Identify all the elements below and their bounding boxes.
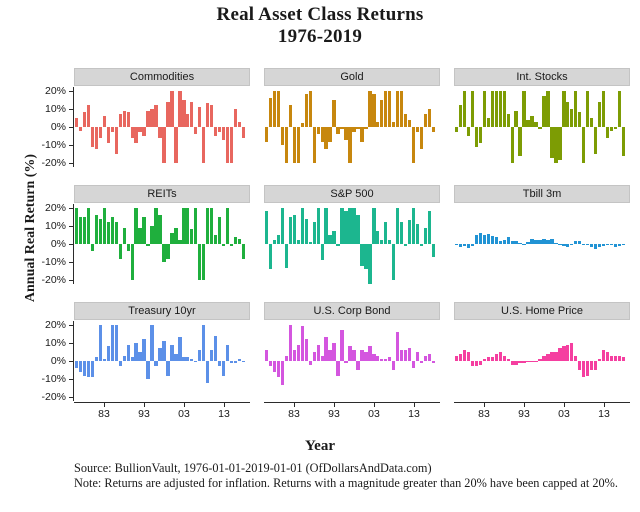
bar	[606, 352, 609, 361]
bar	[138, 228, 141, 244]
bar	[388, 357, 391, 361]
bar	[194, 361, 197, 362]
bar	[514, 361, 517, 365]
x-axis-tick-label: 93	[314, 409, 354, 419]
x-axis-tick	[224, 403, 225, 407]
bar	[226, 208, 229, 244]
bar	[487, 234, 490, 244]
bar	[269, 98, 272, 127]
y-axis-tick-label: 10%	[12, 221, 66, 231]
bar	[99, 325, 102, 361]
bar	[75, 361, 78, 368]
bar	[87, 361, 90, 377]
bar	[226, 127, 229, 163]
bar	[356, 361, 359, 370]
bar	[190, 229, 193, 244]
bar	[317, 127, 320, 134]
bar	[392, 244, 395, 280]
bar	[238, 122, 241, 127]
bar	[289, 105, 292, 127]
bar	[103, 116, 106, 127]
bar	[75, 208, 78, 244]
bar	[182, 100, 185, 127]
bar	[392, 122, 395, 127]
bar	[178, 91, 181, 127]
bar	[530, 361, 533, 362]
bar	[273, 240, 276, 244]
bar	[479, 361, 482, 365]
bar	[87, 105, 90, 127]
bar	[242, 127, 245, 138]
bar	[396, 208, 399, 244]
bar	[158, 348, 161, 361]
bar	[467, 244, 470, 248]
y-axis-tick	[69, 127, 73, 128]
bar	[558, 348, 561, 361]
bar	[107, 222, 110, 244]
bar	[424, 228, 427, 244]
bar	[360, 350, 363, 361]
bar	[534, 122, 537, 127]
bar	[499, 352, 502, 361]
y-axis-tick	[69, 397, 73, 398]
bar	[174, 228, 177, 244]
bar	[123, 228, 126, 244]
bar	[146, 244, 149, 246]
bar	[471, 361, 474, 366]
x-axis-tick	[104, 403, 105, 407]
bar	[83, 112, 86, 127]
bar	[332, 100, 335, 127]
bar	[309, 361, 312, 365]
bar	[598, 359, 601, 361]
bar	[511, 127, 514, 163]
bar	[499, 91, 502, 127]
bar	[127, 112, 130, 127]
facet-panel-int-stocks: Int. Stocks	[454, 68, 630, 167]
bar	[340, 330, 343, 361]
facet-strip-label: Int. Stocks	[516, 72, 567, 83]
chart-caption: Source: BullionVault, 1976-01-01-2019-01…	[74, 461, 630, 490]
y-axis-tick	[69, 325, 73, 326]
caption-source: Source: BullionVault, 1976-01-01-2019-01…	[74, 461, 630, 476]
bar	[360, 244, 363, 266]
bar	[566, 244, 569, 247]
bar	[111, 217, 114, 244]
bar	[598, 244, 601, 247]
facet-panel-s-p-500: S&P 500	[264, 185, 440, 284]
bar	[269, 244, 272, 269]
bar	[301, 123, 304, 127]
bar	[79, 217, 82, 244]
bar	[142, 127, 145, 136]
bar	[368, 346, 371, 361]
bar	[214, 235, 217, 244]
bar	[467, 127, 470, 136]
bar	[400, 350, 403, 361]
bar	[562, 244, 565, 246]
bar	[360, 127, 363, 142]
bar	[408, 348, 411, 361]
bar	[459, 244, 462, 247]
bar	[206, 103, 209, 127]
bar	[459, 105, 462, 127]
bar	[400, 91, 403, 127]
y-axis-tick-label: -10%	[12, 257, 66, 267]
bar	[590, 361, 593, 370]
bar	[372, 208, 375, 244]
bar	[214, 336, 217, 361]
bar	[530, 239, 533, 244]
bar	[95, 127, 98, 149]
bar	[134, 343, 137, 361]
bar	[570, 343, 573, 361]
bar	[293, 215, 296, 244]
bar	[428, 354, 431, 361]
y-axis-tick	[69, 91, 73, 92]
bar	[79, 361, 82, 372]
bar	[313, 127, 316, 163]
bar	[324, 127, 327, 149]
bar	[210, 105, 213, 127]
x-axis-tick	[564, 403, 565, 407]
y-axis-tick	[69, 262, 73, 263]
bar	[99, 127, 102, 138]
chart-page: Real Asset Class Returns 1976-2019 Annua…	[0, 0, 640, 512]
bar	[134, 208, 137, 244]
facet-panel-treasury-10yr: Treasury 10yr	[74, 302, 250, 401]
bar	[538, 127, 541, 129]
bar	[194, 208, 197, 244]
bar	[594, 127, 597, 154]
facet-strip-label: REITs	[147, 189, 176, 200]
bar	[542, 239, 545, 244]
bar	[614, 127, 617, 129]
y-axis-tick-label: -10%	[12, 374, 66, 384]
bar	[138, 352, 141, 361]
bar	[119, 114, 122, 127]
bar	[281, 208, 284, 244]
bar	[131, 357, 134, 361]
bar	[273, 361, 276, 372]
bar	[396, 332, 399, 361]
facet-panel-commodities: Commodities	[74, 68, 250, 167]
bar	[317, 345, 320, 361]
bar	[281, 361, 284, 385]
bar	[150, 109, 153, 127]
bar	[170, 345, 173, 361]
y-axis-tick-label: 10%	[12, 338, 66, 348]
bar	[305, 339, 308, 361]
bar	[142, 339, 145, 361]
bar	[622, 127, 625, 156]
bar	[277, 235, 280, 244]
bar	[336, 361, 339, 376]
bar	[234, 361, 237, 363]
bar	[277, 361, 280, 377]
facet-strip: U.S. Corp Bond	[264, 302, 440, 320]
bar	[530, 116, 533, 127]
bar	[119, 361, 122, 366]
bar	[404, 114, 407, 127]
y-axis-tick-label: 20%	[12, 320, 66, 330]
bar	[293, 350, 296, 361]
facet-strip-label: S&P 500	[330, 189, 373, 200]
y-axis-tick	[69, 361, 73, 362]
bar	[238, 359, 241, 361]
bar	[202, 244, 205, 280]
bar	[483, 91, 486, 127]
bar	[75, 118, 78, 127]
y-axis-tick-label: 10%	[12, 104, 66, 114]
bar	[495, 91, 498, 127]
bar	[455, 127, 458, 132]
bar	[83, 361, 86, 376]
bar	[392, 361, 395, 370]
bar	[384, 222, 387, 244]
bar	[368, 91, 371, 127]
bar	[467, 352, 470, 361]
bar	[396, 91, 399, 127]
bar	[582, 127, 585, 163]
bar	[471, 91, 474, 127]
bar	[404, 244, 407, 246]
bar	[503, 91, 506, 127]
x-axis-tick	[144, 403, 145, 407]
bar	[202, 127, 205, 163]
plot-area	[454, 321, 630, 401]
bar	[293, 127, 296, 163]
facet-strip: Tbill 3m	[454, 185, 630, 203]
bar	[614, 244, 617, 247]
bar	[380, 240, 383, 244]
bar	[610, 356, 613, 361]
bar	[115, 222, 118, 244]
bar	[83, 217, 86, 244]
bar	[166, 102, 169, 127]
bar	[594, 361, 597, 370]
bar	[166, 244, 169, 259]
bar	[483, 235, 486, 244]
bar	[198, 350, 201, 361]
bar	[178, 240, 181, 244]
bar	[479, 233, 482, 244]
facet-grid: Commodities20%10%0%-10%-20%GoldInt. Stoc…	[0, 0, 640, 512]
bar	[174, 127, 177, 163]
bar	[99, 219, 102, 244]
bar	[328, 235, 331, 244]
facet-panel-u-s-corp-bond: U.S. Corp Bond	[264, 302, 440, 401]
bar	[582, 244, 585, 245]
bar	[178, 337, 181, 361]
bar	[526, 242, 529, 244]
bar	[388, 240, 391, 244]
bar	[503, 240, 506, 244]
bar	[487, 118, 490, 127]
bar	[518, 361, 521, 363]
bar	[511, 361, 514, 365]
bar	[428, 211, 431, 244]
x-axis-tick-label: 83	[84, 409, 124, 419]
x-axis-tick-label: 83	[274, 409, 314, 419]
bar	[388, 91, 391, 127]
bar	[352, 350, 355, 361]
bar	[507, 359, 510, 361]
x-axis-tick-label: 93	[504, 409, 544, 419]
bar	[538, 240, 541, 244]
y-axis-tick	[69, 280, 73, 281]
bar	[586, 361, 589, 376]
bar	[412, 127, 415, 163]
bar	[606, 244, 609, 245]
y-axis-tick-label: 0%	[12, 239, 66, 249]
bar	[194, 127, 197, 134]
bar	[514, 111, 517, 127]
bar	[380, 100, 383, 127]
bar	[91, 361, 94, 377]
facet-strip-label: Treasury 10yr	[128, 306, 195, 317]
bar	[550, 352, 553, 361]
bar	[522, 361, 525, 363]
bar	[142, 217, 145, 244]
bar	[384, 91, 387, 127]
bar	[182, 208, 185, 244]
bar	[574, 241, 577, 244]
bar	[590, 244, 593, 247]
y-axis-tick	[69, 208, 73, 209]
bar	[127, 345, 130, 361]
bar	[210, 350, 213, 361]
bar	[376, 231, 379, 244]
x-axis-tick-label: 13	[584, 409, 624, 419]
bar	[321, 127, 324, 142]
bar	[455, 244, 458, 245]
bar	[265, 350, 268, 361]
bar	[328, 350, 331, 361]
x-axis-tick	[184, 403, 185, 407]
bar	[586, 244, 589, 245]
bar	[297, 345, 300, 361]
bar	[206, 208, 209, 244]
plot-area	[74, 321, 250, 401]
x-axis-tick-label: 93	[124, 409, 164, 419]
bar	[554, 243, 557, 244]
bar	[364, 127, 367, 129]
y-axis-tick-label: -10%	[12, 140, 66, 150]
bar	[234, 109, 237, 127]
bar	[463, 91, 466, 127]
bar	[364, 244, 367, 269]
bar	[305, 219, 308, 244]
bar	[424, 356, 427, 361]
bar	[230, 361, 233, 363]
bar	[507, 114, 510, 127]
bar	[340, 127, 343, 129]
bar	[554, 127, 557, 163]
bar	[348, 346, 351, 361]
y-axis-line	[73, 87, 74, 167]
facet-strip-label: U.S. Corp Bond	[313, 306, 390, 317]
bar	[301, 208, 304, 244]
bar	[115, 127, 118, 154]
bar	[420, 244, 423, 246]
y-axis-tick	[69, 343, 73, 344]
bar	[91, 127, 94, 147]
bar	[578, 361, 581, 370]
bar	[602, 244, 605, 246]
bar	[542, 356, 545, 361]
bar	[416, 224, 419, 244]
bar	[218, 127, 221, 132]
bar	[566, 345, 569, 361]
bar	[518, 243, 521, 244]
bar	[356, 215, 359, 244]
bar	[606, 127, 609, 138]
bar	[348, 208, 351, 244]
bar	[558, 244, 561, 245]
bar	[324, 337, 327, 361]
bar	[340, 208, 343, 244]
bar	[364, 352, 367, 361]
bar	[285, 356, 288, 361]
bar	[134, 127, 137, 143]
y-axis-tick-label: -20%	[12, 158, 66, 168]
bar	[618, 244, 621, 246]
bar	[507, 237, 510, 244]
bar	[265, 211, 268, 244]
bar	[214, 127, 217, 136]
plot-area	[74, 87, 250, 167]
x-axis-tick-label: 13	[204, 409, 244, 419]
bar	[598, 102, 601, 127]
bar	[491, 357, 494, 361]
bar	[123, 111, 126, 127]
y-axis-tick-label: 0%	[12, 122, 66, 132]
y-axis-tick	[69, 163, 73, 164]
plot-area	[454, 204, 630, 284]
bar	[103, 208, 106, 244]
bar	[499, 241, 502, 244]
bar	[95, 215, 98, 244]
bar	[586, 91, 589, 127]
y-axis-tick	[69, 379, 73, 380]
bar	[404, 350, 407, 361]
plot-area	[264, 321, 440, 401]
bar	[471, 244, 474, 246]
bar	[218, 361, 221, 366]
bar	[534, 361, 537, 362]
bar	[202, 325, 205, 361]
facet-panel-u-s-home-price: U.S. Home Price	[454, 302, 630, 401]
bar	[154, 105, 157, 127]
facet-strip: S&P 500	[264, 185, 440, 203]
bar	[226, 345, 229, 361]
bar	[344, 361, 347, 363]
bar	[289, 217, 292, 244]
bar	[614, 356, 617, 361]
bar	[218, 217, 221, 244]
bar	[154, 208, 157, 244]
bar	[119, 244, 122, 259]
bar	[376, 122, 379, 127]
x-axis-tick-label: 03	[354, 409, 394, 419]
bar	[550, 239, 553, 244]
bar	[186, 114, 189, 127]
x-axis-tick	[334, 403, 335, 407]
bar	[463, 244, 466, 246]
bar	[622, 357, 625, 361]
bar	[546, 240, 549, 244]
